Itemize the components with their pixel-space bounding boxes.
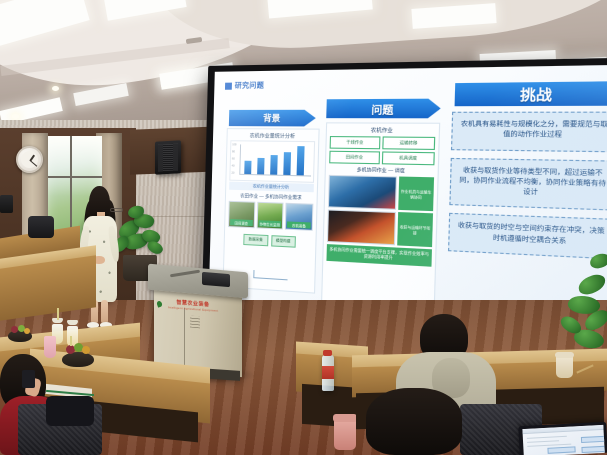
flow-box: 模型构建 bbox=[271, 235, 296, 248]
problem-cell: 干线作业 bbox=[330, 136, 381, 149]
glasses-icon bbox=[110, 208, 123, 212]
chart-bar bbox=[270, 155, 278, 175]
photo-harvester-truck bbox=[328, 175, 397, 210]
photo-row: 田间调查 作物生长监测 农机装备 bbox=[228, 201, 313, 231]
problem-grid: 干线作业 运输转移 田间作业 机具调度 bbox=[329, 136, 435, 165]
chart-bar bbox=[283, 152, 291, 175]
chart-bar bbox=[297, 147, 305, 176]
slide-header-tag: 研究问题 bbox=[225, 80, 264, 91]
laptop-cell bbox=[581, 436, 605, 443]
podium-seam bbox=[184, 308, 185, 366]
chart-caption: 农机作业量统计分析 bbox=[229, 182, 314, 193]
problem-cell: 运输转移 bbox=[382, 136, 435, 150]
chart-ytick: 60 bbox=[232, 157, 235, 160]
problem-cell: 田间作业 bbox=[329, 151, 380, 165]
banner-challenge: 挑战 bbox=[455, 81, 607, 106]
bottle-label bbox=[322, 366, 334, 379]
photo-machinery: 农机装备 bbox=[285, 203, 313, 231]
podium-vent bbox=[190, 316, 200, 329]
problem-photo-row-2: 收获与运输环节衔接 bbox=[327, 209, 433, 247]
laptop[interactable] bbox=[518, 422, 607, 455]
cup-lid bbox=[67, 320, 78, 325]
clock-minute-hand bbox=[29, 160, 37, 167]
laptop-text-line bbox=[527, 436, 567, 439]
wall-speaker bbox=[155, 140, 181, 174]
challenge-item: 农机具有易耗性与规模化之分，需要规范与取值的动作作业过程 bbox=[451, 112, 607, 152]
podium-monitor[interactable] bbox=[202, 272, 230, 287]
bag bbox=[46, 396, 94, 426]
bottle-cap bbox=[323, 350, 332, 356]
drink-cup-center bbox=[334, 420, 356, 450]
banner-problem: 问题 bbox=[326, 99, 441, 119]
flow-connector bbox=[253, 270, 287, 280]
straw bbox=[70, 336, 72, 346]
wall-clock bbox=[16, 146, 43, 173]
challenge-item: 收获与取货的时空与空间约束存在冲突，决策时机遵循时空耦合关系 bbox=[448, 213, 607, 259]
problem-subheading: 多机协同作业 — 调度 bbox=[329, 166, 434, 175]
laptop-cell bbox=[547, 446, 575, 453]
chart-axes bbox=[239, 144, 312, 176]
problem-heading: 农机作业 bbox=[330, 127, 436, 135]
chart-ytick: 100 bbox=[232, 143, 236, 146]
laptop-cell bbox=[581, 446, 604, 453]
drink-cup-pink bbox=[44, 336, 56, 358]
presentation-slide: 研究问题 背景 问题 挑战 农机作业量统计分析 100 80 60 40 20 bbox=[209, 65, 607, 332]
photo-night-harvest bbox=[327, 209, 396, 245]
ceiling-spotlight bbox=[12, 114, 19, 119]
slide-tag-square-icon bbox=[225, 82, 232, 89]
window-mullion bbox=[44, 176, 102, 178]
lectern-podium[interactable]: 智慧农业装备 Intelligent Agricultural Equipmen… bbox=[148, 268, 248, 378]
wall-speaker-small bbox=[0, 195, 13, 213]
laptop-text-line bbox=[527, 440, 559, 443]
ceiling-spotlight bbox=[52, 86, 59, 91]
chart-bar bbox=[257, 157, 264, 174]
paper-cup bbox=[556, 356, 573, 378]
bar-chart: 100 80 60 40 20 bbox=[229, 140, 315, 183]
chart-ytick: 80 bbox=[232, 150, 235, 153]
slide-column-problem: 农机作业 干线作业 运输转移 田间作业 机具调度 多机协同作业 — 调度 作业机… bbox=[321, 122, 440, 310]
problem-footer: 多机协同作业需要统一调度平台支撑，实现作业效率与资源利用率提升 bbox=[326, 244, 432, 267]
chart-ytick: 20 bbox=[231, 172, 234, 175]
flow-row: 数据采集 模型构建 bbox=[228, 233, 313, 248]
presenter-leg bbox=[101, 300, 108, 324]
photo-caption: 作物生长监测 bbox=[258, 220, 281, 227]
laptop-toolbar bbox=[522, 425, 603, 434]
chart-title: 农机作业量统计分析 bbox=[230, 132, 315, 140]
photo-caption: 田间调查 bbox=[230, 219, 252, 226]
chair-back-left[interactable] bbox=[28, 216, 54, 238]
laptop-screen[interactable] bbox=[522, 425, 604, 455]
photo-side-label: 收获与运输环节衔接 bbox=[397, 212, 433, 247]
conference-room-photo: 研究问题 背景 问题 挑战 农机作业量统计分析 100 80 60 40 20 bbox=[0, 0, 607, 455]
photo-caption: 农机装备 bbox=[287, 221, 311, 228]
fruit bbox=[11, 326, 18, 333]
chart-ytick: 40 bbox=[232, 165, 235, 168]
problem-cell: 机具调度 bbox=[382, 151, 435, 165]
fruit bbox=[24, 328, 30, 334]
problem-photo-row-1: 作业机具与运输车辆协同 bbox=[328, 175, 434, 211]
fruit-bowl bbox=[62, 352, 94, 367]
chart-bar bbox=[244, 161, 251, 174]
led-display-screen[interactable]: 研究问题 背景 问题 挑战 农机作业量统计分析 100 80 60 40 20 bbox=[202, 58, 607, 341]
photo-field-survey: 田间调查 bbox=[228, 201, 255, 228]
slide-header-text: 研究问题 bbox=[235, 80, 265, 91]
smartphone bbox=[22, 370, 35, 388]
photo-side-label: 作业机具与运输车辆协同 bbox=[398, 176, 434, 211]
banner-background: 背景 bbox=[229, 110, 316, 127]
clock-face bbox=[21, 151, 38, 168]
cup-lid bbox=[555, 352, 574, 358]
straw bbox=[57, 308, 59, 320]
photo-crop-monitoring: 作物生长监测 bbox=[256, 202, 284, 230]
fruit bbox=[82, 346, 90, 354]
audience-head-right bbox=[366, 388, 462, 455]
cup-lid bbox=[333, 414, 357, 422]
flow-box: 数据采集 bbox=[243, 234, 268, 246]
challenge-item: 收获与取货作业等待类型不同，超过运输不同，协同作业流程不均衡，协同作业策略有待设… bbox=[449, 157, 607, 211]
